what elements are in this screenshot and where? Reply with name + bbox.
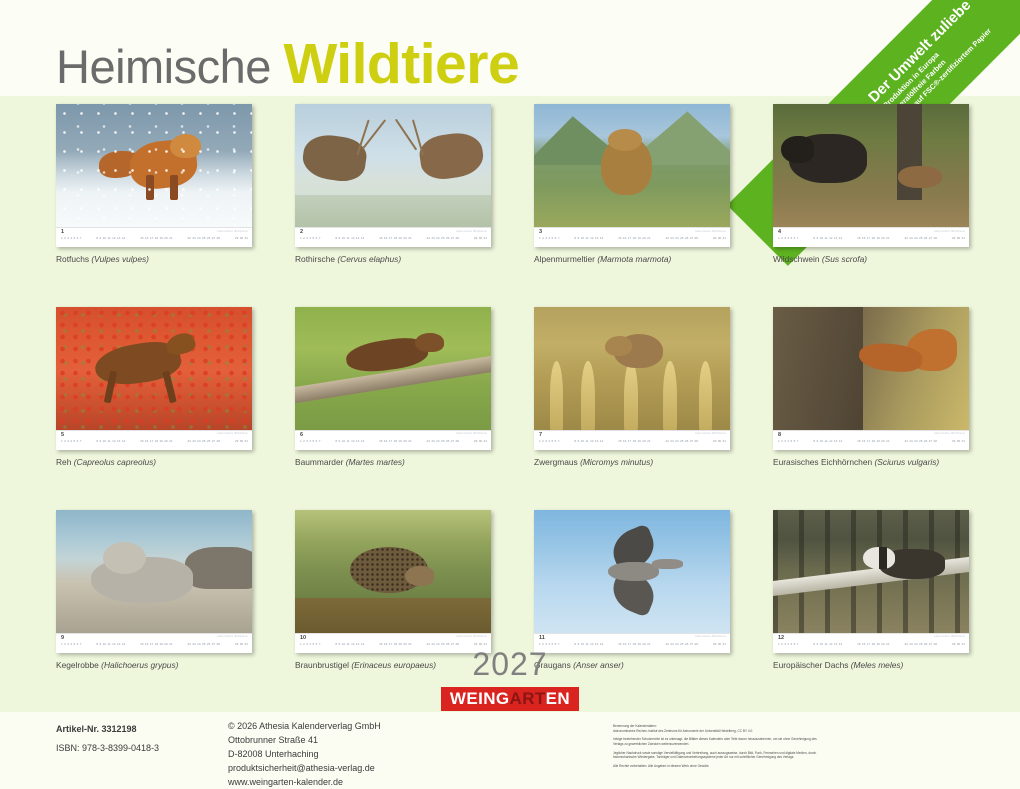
calendar-week: 15161718192021 <box>618 440 651 443</box>
calendar-week: 1234567 <box>539 237 559 240</box>
strip-corner-title: Heimische Wildtiere <box>934 230 965 233</box>
calendar-day: 13 <box>834 237 837 240</box>
calendar-week: 891011121314 <box>335 643 364 646</box>
calendar-day: 25 <box>441 643 444 646</box>
month-thumbnail-11[interactable]: 11Heimische Wildtiere1234567891011121314… <box>534 510 730 671</box>
calendar-day: 18 <box>394 643 397 646</box>
calendar-day: 3 <box>545 237 547 240</box>
calendar-day: 31 <box>723 643 726 646</box>
calendar-day: 19 <box>637 237 640 240</box>
calendar-day: 24 <box>914 237 917 240</box>
calendar-day: 9 <box>99 643 101 646</box>
calendar-day: 17 <box>389 237 392 240</box>
month-number: 2 <box>300 229 303 235</box>
calendar-day: 13 <box>117 643 120 646</box>
calendar-day: 16 <box>623 643 626 646</box>
calendar-day: 1 <box>539 237 541 240</box>
calendar-day: 16 <box>145 643 148 646</box>
calendar-day: 8 <box>813 643 815 646</box>
month-photo-roe <box>56 307 252 430</box>
calendar-day: 28 <box>934 643 937 646</box>
calendar-day: 18 <box>872 237 875 240</box>
month-card[interactable]: 10Heimische Wildtiere1234567891011121314… <box>295 510 491 653</box>
month-photo-badger <box>773 510 969 633</box>
calendar-day: 10 <box>342 440 345 443</box>
calendar-day: 27 <box>451 440 454 443</box>
calendar-day: 3 <box>306 440 308 443</box>
calendar-day: 8 <box>574 440 576 443</box>
calendar-week: 891011121314 <box>574 237 603 240</box>
calendar-day: 1 <box>778 643 780 646</box>
calendar-day: 12 <box>112 643 115 646</box>
calendar-day: 6 <box>794 440 796 443</box>
calendar-day: 27 <box>451 643 454 646</box>
calendar-day: 15 <box>857 440 860 443</box>
calendar-day: 7 <box>319 643 321 646</box>
calendar-day: 21 <box>886 643 889 646</box>
calendar-week: 15161718192021 <box>140 440 173 443</box>
calendar-day: 30 <box>240 237 243 240</box>
calendar-day: 25 <box>202 440 205 443</box>
month-photo-hedgehog <box>295 510 491 633</box>
calendar-day: 2 <box>303 440 305 443</box>
calendar-week: 293031 <box>235 643 248 646</box>
calendar-day: 6 <box>316 440 318 443</box>
calendar-day: 30 <box>718 237 721 240</box>
month-number: 9 <box>61 635 64 641</box>
calendar-day: 7 <box>80 237 82 240</box>
strip-corner-title: Heimische Wildtiere <box>456 635 487 638</box>
species-common-name: Reh <box>56 457 71 467</box>
calendar-week: 293031 <box>713 237 726 240</box>
calendar-day: 21 <box>408 237 411 240</box>
calendar-day: 10 <box>581 643 584 646</box>
calendar-week: 293031 <box>235 440 248 443</box>
calendar-day: 31 <box>723 237 726 240</box>
species-common-name: Rotfuchs <box>56 254 89 264</box>
calendar-day: 19 <box>876 237 879 240</box>
calendar-day: 11 <box>824 237 827 240</box>
calendar-day: 11 <box>585 643 588 646</box>
calendar-week: 891011121314 <box>813 643 842 646</box>
calendar-day: 7 <box>558 643 560 646</box>
calendar-day: 25 <box>441 440 444 443</box>
month-photo-marten <box>295 307 491 430</box>
calendar-day: 19 <box>398 643 401 646</box>
calendar-week: 891011121314 <box>96 237 125 240</box>
calendar-day: 16 <box>623 237 626 240</box>
calendar-day: 14 <box>122 237 125 240</box>
calendar-day: 29 <box>952 440 955 443</box>
calendar-day: 3 <box>306 237 308 240</box>
calendar-day: 31 <box>962 440 965 443</box>
calendar-day: 21 <box>647 237 650 240</box>
calendar-day: 27 <box>451 237 454 240</box>
calendar-week: 22232425262728 <box>665 237 698 240</box>
calendar-week: 1234567 <box>778 440 798 443</box>
contact-email[interactable]: produktsicherheit@athesia-verlag.de <box>228 762 488 776</box>
calendar-day: 29 <box>474 440 477 443</box>
calendar-week: 293031 <box>713 440 726 443</box>
month-card[interactable]: 2Heimische Wildtiere12345678910111213141… <box>295 104 491 247</box>
calendar-day: 31 <box>245 440 248 443</box>
calendar-day: 3 <box>67 440 69 443</box>
calendar-day: 22 <box>904 643 907 646</box>
calendar-day: 8 <box>813 440 815 443</box>
calendar-day: 21 <box>886 237 889 240</box>
month-number: 4 <box>778 229 781 235</box>
calendar-day: 14 <box>839 237 842 240</box>
month-card[interactable]: 11Heimische Wildtiere1234567891011121314… <box>534 510 730 653</box>
calendar-day: 9 <box>338 643 340 646</box>
calendar-week: 293031 <box>474 237 487 240</box>
calendar-day: 12 <box>351 643 354 646</box>
calendar-week: 15161718192021 <box>618 643 651 646</box>
calendar-day: 13 <box>595 643 598 646</box>
calendar-day: 22 <box>904 440 907 443</box>
calendar-day: 26 <box>207 643 210 646</box>
calendar-day: 26 <box>685 440 688 443</box>
calendar-week: 15161718192021 <box>857 643 890 646</box>
calendar-day: 8 <box>335 643 337 646</box>
calendar-day: 26 <box>446 643 449 646</box>
calendar-day: 26 <box>685 237 688 240</box>
calendar-day: 30 <box>718 643 721 646</box>
calendar-day: 2 <box>64 440 66 443</box>
title-part-2: Wildtiere <box>283 32 519 96</box>
calendar-day: 6 <box>794 643 796 646</box>
month-number: 3 <box>539 229 542 235</box>
calendar-day: 7 <box>558 440 560 443</box>
calendar-day: 8 <box>574 237 576 240</box>
calendar-day: 3 <box>784 237 786 240</box>
calendar-day: 30 <box>718 440 721 443</box>
calendar-day: 31 <box>723 440 726 443</box>
strip-corner-title: Heimische Wildtiere <box>695 230 726 233</box>
calendar-day: 6 <box>77 440 79 443</box>
month-card[interactable]: 7Heimische Wildtiere12345678910111213141… <box>534 307 730 450</box>
calendar-day: 13 <box>595 237 598 240</box>
calendar-day: 17 <box>628 237 631 240</box>
calendar-day: 6 <box>555 440 557 443</box>
logo-part-3: EN <box>546 689 570 708</box>
calendar-day: 25 <box>202 643 205 646</box>
calendar-week: 22232425262728 <box>426 643 459 646</box>
month-thumbnail-4[interactable]: 4Heimische Wildtiere12345678910111213141… <box>773 104 969 265</box>
calendar-day: 11 <box>346 237 349 240</box>
calendar-day: 1 <box>300 440 302 443</box>
calendar-day: 28 <box>456 643 459 646</box>
calendar-day: 30 <box>479 440 482 443</box>
calendar-day: 19 <box>637 440 640 443</box>
month-number: 1 <box>61 229 64 235</box>
strip-corner-title: Heimische Wildtiere <box>695 635 726 638</box>
calendar-day: 15 <box>140 643 143 646</box>
calendar-day: 15 <box>379 237 382 240</box>
calendar-day: 12 <box>351 440 354 443</box>
calendar-day: 2 <box>64 643 66 646</box>
species-common-name: Rothirsche <box>295 254 335 264</box>
calendar-day: 10 <box>820 440 823 443</box>
calendar-day: 30 <box>957 440 960 443</box>
calendar-day: 18 <box>394 237 397 240</box>
calendar-day: 12 <box>112 237 115 240</box>
calendar-week: 15161718192021 <box>140 643 173 646</box>
calendar-day: 12 <box>351 237 354 240</box>
calendar-day: 7 <box>558 237 560 240</box>
calendar-day: 11 <box>107 643 110 646</box>
calendar-day: 22 <box>665 643 668 646</box>
calendar-day: 25 <box>680 237 683 240</box>
calendar-day: 4 <box>548 237 550 240</box>
month-card[interactable]: 1Heimische Wildtiere12345678910111213141… <box>56 104 252 247</box>
calendar-day: 10 <box>581 440 584 443</box>
publisher-logo: WEINGARTEN <box>441 687 579 711</box>
calendar-day: 4 <box>548 643 550 646</box>
calendar-day: 4 <box>70 237 72 240</box>
month-card[interactable]: 12Heimische Wildtiere1234567891011121314… <box>773 510 969 653</box>
month-thumbnail-7[interactable]: 7Heimische Wildtiere12345678910111213141… <box>534 307 730 468</box>
month-number: 10 <box>300 635 306 641</box>
strip-corner-title: Heimische Wildtiere <box>456 230 487 233</box>
calendar-week: 1234567 <box>539 440 559 443</box>
calendar-day: 30 <box>479 237 482 240</box>
calendar-week: 15161718192021 <box>618 237 651 240</box>
calendar-week: 22232425262728 <box>904 643 937 646</box>
publisher-address: © 2026 Athesia Kalenderverlag GmbH Ottob… <box>228 720 488 789</box>
calendar-day: 14 <box>361 643 364 646</box>
calendar-day: 2 <box>303 643 305 646</box>
calendar-day: 22 <box>665 237 668 240</box>
calendar-day: 25 <box>202 237 205 240</box>
calendar-day: 18 <box>633 440 636 443</box>
month-card[interactable]: 5Heimische Wildtiere12345678910111213141… <box>56 307 252 450</box>
calendar-day: 21 <box>169 440 172 443</box>
calendar-day: 30 <box>957 643 960 646</box>
calendar-day: 8 <box>335 440 337 443</box>
calendar-day: 10 <box>581 237 584 240</box>
calendar-day: 21 <box>886 440 889 443</box>
calendar-day: 19 <box>876 440 879 443</box>
calendar-day: 29 <box>952 643 955 646</box>
month-card[interactable]: 6Heimische Wildtiere12345678910111213141… <box>295 307 491 450</box>
calendar-day: 14 <box>361 440 364 443</box>
month-card[interactable]: 9Heimische Wildtiere12345678910111213141… <box>56 510 252 653</box>
calendar-day: 4 <box>787 440 789 443</box>
calendar-day: 17 <box>389 440 392 443</box>
calendar-day: 12 <box>590 237 593 240</box>
legal-text-block: Benennung der Kalenderdaten: Astronomisc… <box>613 724 828 772</box>
calendar-day: 21 <box>408 643 411 646</box>
calendar-day: 4 <box>309 440 311 443</box>
month-photo-marmot <box>534 104 730 227</box>
year-and-publisher: 2027 WEINGARTEN <box>0 648 1020 711</box>
calendar-day: 3 <box>67 237 69 240</box>
calendar-day: 28 <box>456 237 459 240</box>
calendar-day: 5 <box>74 237 76 240</box>
month-thumbnail-2[interactable]: 2Heimische Wildtiere12345678910111213141… <box>295 104 491 265</box>
calendar-day: 13 <box>356 440 359 443</box>
calendar-day: 16 <box>384 237 387 240</box>
species-caption: Alpenmurmeltier (Marmota marmota) <box>534 254 730 265</box>
month-number: 11 <box>539 635 545 641</box>
calendar-week: 22232425262728 <box>426 237 459 240</box>
calendar-day: 18 <box>633 643 636 646</box>
month-thumbnail-6[interactable]: 6Heimische Wildtiere12345678910111213141… <box>295 307 491 468</box>
calendar-day: 1 <box>61 440 63 443</box>
calendar-day: 20 <box>881 440 884 443</box>
calendar-day: 2 <box>542 440 544 443</box>
month-card[interactable]: 8Heimische Wildtiere12345678910111213141… <box>773 307 969 450</box>
calendar-day: 29 <box>474 237 477 240</box>
legal-paragraph: Alle Rechte vorbehalten. Alle Angaben in… <box>613 764 828 769</box>
month-date-strip: 6Heimische Wildtiere12345678910111213141… <box>295 430 491 450</box>
month-number: 5 <box>61 432 64 438</box>
calendar-day: 23 <box>192 643 195 646</box>
month-date-strip: 7Heimische Wildtiere12345678910111213141… <box>534 430 730 450</box>
calendar-day: 7 <box>319 237 321 240</box>
calendar-day: 17 <box>389 643 392 646</box>
calendar-day: 15 <box>857 237 860 240</box>
strip-corner-title: Heimische Wildtiere <box>934 432 965 435</box>
calendar-day: 16 <box>862 643 865 646</box>
calendar-day: 1 <box>300 643 302 646</box>
calendar-day: 18 <box>155 440 158 443</box>
calendar-day: 19 <box>159 440 162 443</box>
footer: Artikel-Nr. 3312198 ISBN: 978-3-8399-041… <box>0 712 1020 789</box>
month-thumbnail-10[interactable]: 10Heimische Wildtiere1234567891011121314… <box>295 510 491 671</box>
calendar-day: 2 <box>781 440 783 443</box>
species-common-name: Zwergmaus <box>534 457 578 467</box>
calendar-week: 1234567 <box>300 237 320 240</box>
month-photo-mouse <box>534 307 730 430</box>
calendar-day: 20 <box>164 643 167 646</box>
calendar-day: 23 <box>909 643 912 646</box>
calendar-week: 22232425262728 <box>665 440 698 443</box>
species-scientific-name: (Martes martes) <box>346 457 405 467</box>
calendar-day: 24 <box>675 643 678 646</box>
month-date-strip: 3Heimische Wildtiere12345678910111213141… <box>534 227 730 247</box>
calendar-day: 3 <box>784 643 786 646</box>
calendar-day: 7 <box>80 440 82 443</box>
species-scientific-name: (Vulpes vulpes) <box>91 254 149 264</box>
calendar-day: 17 <box>150 440 153 443</box>
calendar-day: 9 <box>816 237 818 240</box>
calendar-day: 12 <box>829 440 832 443</box>
calendar-day: 9 <box>338 237 340 240</box>
strip-corner-title: Heimische Wildtiere <box>934 635 965 638</box>
credits-body: Astronomisches Rechen-Institut des Zentr… <box>613 729 828 734</box>
calendar-day: 25 <box>680 643 683 646</box>
calendar-day: 2 <box>781 643 783 646</box>
species-scientific-name: (Sciurus vulgaris) <box>875 457 940 467</box>
calendar-day: 30 <box>957 237 960 240</box>
calendar-day: 27 <box>929 237 932 240</box>
calendar-week: 1234567 <box>778 643 798 646</box>
calendar-day: 2 <box>542 237 544 240</box>
date-grid: 1234567891011121314151617181920212223242… <box>61 237 248 240</box>
strip-corner-title: Heimische Wildtiere <box>695 432 726 435</box>
calendar-day: 24 <box>675 440 678 443</box>
calendar-day: 6 <box>555 237 557 240</box>
month-thumbnail-5[interactable]: 5Heimische Wildtiere12345678910111213141… <box>56 307 252 468</box>
month-number: 7 <box>539 432 542 438</box>
calendar-day: 29 <box>713 643 716 646</box>
calendar-day: 8 <box>574 643 576 646</box>
calendar-day: 4 <box>70 643 72 646</box>
calendar-day: 23 <box>192 237 195 240</box>
month-date-strip: 4Heimische Wildtiere12345678910111213141… <box>773 227 969 247</box>
calendar-day: 4 <box>309 237 311 240</box>
calendar-day: 24 <box>914 440 917 443</box>
month-thumbnail-12[interactable]: 12Heimische Wildtiere1234567891011121314… <box>773 510 969 671</box>
calendar-day: 20 <box>403 440 406 443</box>
month-photo-squirrel <box>773 307 969 430</box>
calendar-day: 27 <box>212 237 215 240</box>
calendar-day: 9 <box>577 440 579 443</box>
calendar-day: 11 <box>107 237 110 240</box>
month-thumbnail-3[interactable]: 3Heimische Wildtiere12345678910111213141… <box>534 104 730 265</box>
month-card[interactable]: 4Heimische Wildtiere12345678910111213141… <box>773 104 969 247</box>
species-caption: Wildschwein (Sus scrofa) <box>773 254 969 265</box>
calendar-day: 19 <box>637 643 640 646</box>
calendar-day: 19 <box>398 237 401 240</box>
calendar-day: 5 <box>74 440 76 443</box>
calendar-day: 23 <box>670 237 673 240</box>
month-thumbnail-8[interactable]: 8Heimische Wildtiere12345678910111213141… <box>773 307 969 468</box>
date-grid: 1234567891011121314151617181920212223242… <box>778 643 965 646</box>
calendar-day: 10 <box>342 237 345 240</box>
calendar-day: 31 <box>962 237 965 240</box>
month-thumbnail-9[interactable]: 9Heimische Wildtiere12345678910111213141… <box>56 510 252 671</box>
month-thumbnail-1[interactable]: 1Heimische Wildtiere12345678910111213141… <box>56 104 252 265</box>
logo-part-1: WEING <box>450 689 510 708</box>
calendar-day: 7 <box>797 237 799 240</box>
species-scientific-name: (Sus scrofa) <box>822 254 867 264</box>
calendar-day: 23 <box>909 237 912 240</box>
calendar-day: 7 <box>797 440 799 443</box>
calendar-day: 8 <box>813 237 815 240</box>
calendar-day: 26 <box>207 237 210 240</box>
strip-corner-title: Heimische Wildtiere <box>217 230 248 233</box>
calendar-day: 19 <box>159 643 162 646</box>
calendar-day: 3 <box>67 643 69 646</box>
calendar-day: 15 <box>140 237 143 240</box>
calendar-day: 17 <box>867 237 870 240</box>
calendar-day: 25 <box>919 643 922 646</box>
calendar-day: 18 <box>872 643 875 646</box>
calendar-day: 15 <box>379 440 382 443</box>
calendar-day: 17 <box>150 237 153 240</box>
calendar-day: 22 <box>665 440 668 443</box>
calendar-day: 12 <box>829 643 832 646</box>
month-card[interactable]: 3Heimische Wildtiere12345678910111213141… <box>534 104 730 247</box>
calendar-day: 21 <box>169 237 172 240</box>
calendar-day: 19 <box>876 643 879 646</box>
calendar-day: 22 <box>904 237 907 240</box>
calendar-day: 17 <box>628 440 631 443</box>
calendar-day: 9 <box>577 643 579 646</box>
calendar-day: 26 <box>924 643 927 646</box>
website-url[interactable]: www.weingarten-kalender.de <box>228 776 488 789</box>
calendar-day: 5 <box>552 237 554 240</box>
calendar-day: 11 <box>824 440 827 443</box>
calendar-week: 891011121314 <box>813 440 842 443</box>
calendar-week: 891011121314 <box>574 440 603 443</box>
date-grid: 1234567891011121314151617181920212223242… <box>300 440 487 443</box>
calendar-week: 22232425262728 <box>187 643 220 646</box>
calendar-day: 18 <box>394 440 397 443</box>
